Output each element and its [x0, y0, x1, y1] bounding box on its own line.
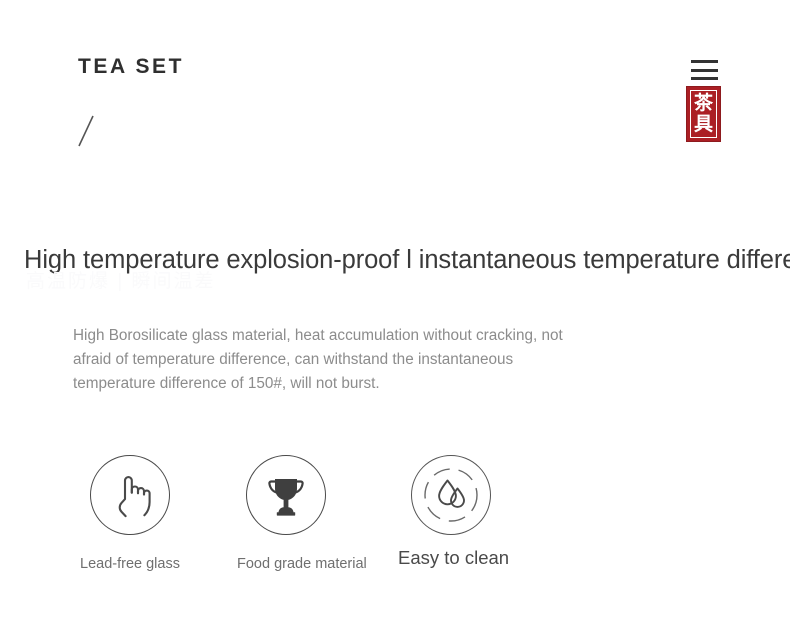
- feature-icon-circle: [411, 455, 491, 535]
- trophy-icon: [262, 472, 310, 518]
- product-detail-page: TEA SET 茶 具 High temperature explosion-p…: [0, 0, 790, 630]
- water-droplets-icon: [420, 464, 482, 526]
- chinese-seal-stamp[interactable]: 茶 具: [686, 86, 721, 142]
- menu-line-1: [691, 60, 718, 63]
- feature-list: Lead-free glass Food grade material: [0, 455, 790, 595]
- feature-label: Easy to clean: [398, 549, 503, 567]
- feature-item-easy-to-clean: Easy to clean: [398, 455, 503, 567]
- brand-logo: TEA SET: [78, 56, 184, 77]
- pointing-hand-icon: [108, 471, 152, 519]
- menu-line-3: [691, 77, 718, 80]
- seal-character-cha: 茶: [694, 93, 713, 114]
- feature-item-food-grade-material: Food grade material: [237, 455, 334, 573]
- feature-icon-circle: [246, 455, 326, 535]
- hero-headline-ghost: 高温防爆 | 瞬间温差: [26, 270, 546, 294]
- feature-label: Lead-free glass: [76, 555, 184, 573]
- feature-item-lead-free-glass: Lead-free glass: [76, 455, 184, 573]
- seal-character-ju: 具: [694, 114, 713, 135]
- hero-body-text: High Borosilicate glass material, heat a…: [73, 324, 583, 397]
- decorative-slash: [74, 112, 100, 154]
- seal-inner-border: 茶 具: [690, 90, 717, 138]
- feature-icon-circle: [90, 455, 170, 535]
- hamburger-menu-icon[interactable]: [691, 60, 718, 80]
- menu-line-2: [691, 69, 718, 72]
- feature-label: Food grade material: [237, 555, 334, 573]
